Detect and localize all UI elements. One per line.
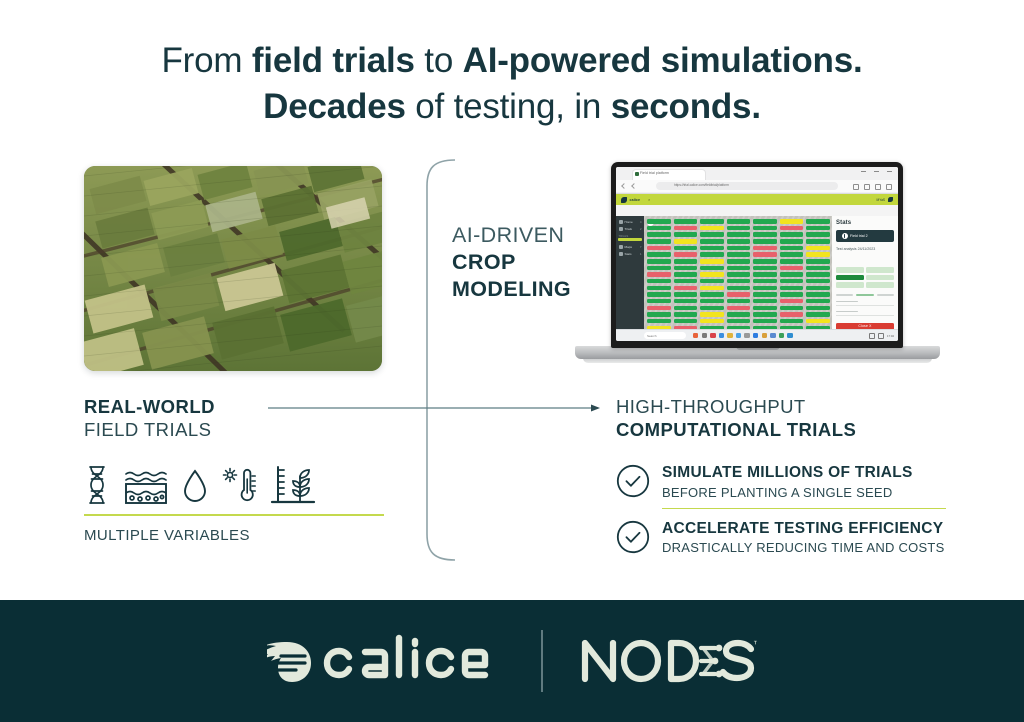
sidebar-label-0: Home (625, 220, 633, 224)
app-user-label: MYaS (877, 198, 885, 202)
plot-cell[interactable] (674, 279, 698, 284)
stats-panel-title: Stats (836, 220, 894, 226)
trials-icon (619, 227, 623, 231)
sidebar-item-trials[interactable]: Trials2 (616, 225, 644, 232)
plot-cell[interactable] (647, 239, 671, 244)
page-title: From field trials to AI-powered simulati… (0, 38, 1024, 129)
benefit-heading-1: SIMULATE MILLIONS OF TRIALS (662, 463, 913, 482)
plot-cell[interactable] (727, 286, 751, 291)
plot-cell[interactable] (700, 252, 724, 257)
sidebar-group-label: TRIALS (616, 234, 644, 238)
right-column: HIGH-THROUGHPUT COMPUTATIONAL TRIALS SIM… (616, 396, 946, 555)
plot-cell[interactable] (674, 246, 698, 251)
grid-columns (647, 219, 830, 330)
plot-cell[interactable] (780, 226, 804, 231)
headline-part-3: to (415, 41, 463, 80)
plot-cell[interactable] (647, 286, 671, 291)
plot-cell[interactable] (806, 232, 830, 237)
plot-cell[interactable] (647, 312, 671, 317)
right-divider-rule (662, 508, 946, 510)
field-underline (836, 315, 894, 316)
plot-cell[interactable] (647, 226, 671, 231)
plot-cell[interactable] (780, 246, 804, 251)
field-pin-icon (842, 233, 848, 239)
benefit-sub-2: DRASTICALLY REDUCING TIME AND COSTS (662, 540, 945, 555)
plot-cell[interactable] (727, 299, 751, 304)
soil-layers-icon (124, 469, 168, 505)
plot-cell[interactable] (806, 252, 830, 257)
plot-cell[interactable] (780, 239, 804, 244)
plot-cell[interactable] (727, 292, 751, 297)
app-header-right: MYaS (877, 197, 893, 202)
plot-cell[interactable] (647, 306, 671, 311)
bookmark-icon[interactable] (864, 184, 870, 190)
left-title-light: FIELD TRIALS (84, 419, 384, 442)
trademark-symbol: ™ (753, 639, 757, 649)
plot-cell[interactable] (753, 239, 777, 244)
plot-cell[interactable] (674, 219, 698, 224)
plot-cell[interactable] (674, 286, 698, 291)
plot-cell[interactable] (806, 226, 830, 231)
stats-card-label: Field trial 2 (850, 234, 868, 238)
plot-cell[interactable] (647, 299, 671, 304)
left-divider-rule (84, 514, 384, 516)
app-tab-close-icon[interactable]: × (648, 198, 650, 202)
stats-mini-legend (836, 294, 894, 296)
legend-bar-active (856, 294, 873, 296)
sidebar-active-indicator (618, 238, 642, 241)
plot-cell[interactable] (753, 259, 777, 264)
nodes-logo: ™ (579, 633, 757, 689)
left-caption: MULTIPLE VARIABLES (84, 527, 384, 544)
plot-cell[interactable] (780, 272, 804, 277)
taskbar-icon-6[interactable] (736, 333, 741, 338)
trial-plot-grid[interactable] (644, 216, 832, 330)
plot-cell[interactable] (674, 252, 698, 257)
plot-cell[interactable] (674, 239, 698, 244)
plot-cell[interactable] (753, 306, 777, 311)
grid-column-4 (753, 219, 777, 330)
plot-cell[interactable] (806, 239, 830, 244)
taskbar-icon-7[interactable] (744, 333, 749, 338)
browser-address-row: https://trial.calice.com/fieldtrial/plat… (616, 180, 898, 192)
calice-logo (267, 634, 505, 688)
plot-cell[interactable] (753, 272, 777, 277)
stats-chip[interactable] (836, 282, 864, 288)
taskbar-app-icons[interactable] (693, 333, 793, 338)
plot-cell[interactable] (647, 272, 671, 277)
laptop-lid: Field trial platform https://trial.calic… (611, 162, 903, 348)
plot-cell[interactable] (753, 226, 777, 231)
os-taskbar: Search (616, 329, 898, 341)
taskbar-icon-1[interactable] (693, 333, 698, 338)
maps-icon (619, 245, 623, 249)
home-icon (619, 220, 623, 224)
taskbar-tray[interactable]: 17:02 (869, 333, 894, 339)
grid-column-0 (647, 219, 671, 330)
plot-cell[interactable] (806, 299, 830, 304)
ruler-plant-icon (270, 465, 316, 505)
plot-cell[interactable] (780, 279, 804, 284)
plot-cell[interactable] (727, 266, 751, 271)
plot-cell[interactable] (727, 306, 751, 311)
app-sidebar: Home4 Trials2 TRIALS Maps7 Stats1 (616, 216, 644, 330)
plot-cell[interactable] (700, 246, 724, 251)
back-icon[interactable] (621, 183, 627, 189)
plot-cell[interactable] (674, 312, 698, 317)
plot-cell[interactable] (674, 299, 698, 304)
plot-cell[interactable] (700, 239, 724, 244)
profile-icon[interactable] (875, 184, 881, 190)
plot-cell[interactable] (806, 292, 830, 297)
plot-cell[interactable] (674, 232, 698, 237)
network-icon[interactable] (869, 333, 875, 339)
plot-cell[interactable] (727, 232, 751, 237)
plot-cell[interactable] (700, 306, 724, 311)
plot-cell[interactable] (647, 252, 671, 257)
plot-cell[interactable] (700, 266, 724, 271)
plot-cell[interactable] (674, 266, 698, 271)
field-label (836, 301, 858, 303)
taskbar-icon-3[interactable] (710, 333, 715, 338)
plot-cell[interactable] (780, 232, 804, 237)
plot-cell[interactable] (780, 266, 804, 271)
left-column: REAL-WORLD FIELD TRIALS (84, 396, 384, 544)
grid-column-3 (727, 219, 751, 330)
plot-cell[interactable] (780, 286, 804, 291)
sidebar-label-2: Maps (625, 245, 633, 249)
sidebar-item-maps[interactable]: Maps7 (616, 243, 644, 250)
thermometer-sun-icon (222, 467, 256, 505)
plot-cell[interactable] (780, 299, 804, 304)
window-controls[interactable] (861, 171, 892, 172)
plot-cell[interactable] (647, 319, 671, 324)
bracket-path (427, 160, 455, 560)
plot-cell[interactable] (806, 306, 830, 311)
plot-cell[interactable] (727, 259, 751, 264)
headline-part-4: AI-powered simulations. (463, 41, 863, 80)
field-trial-photo (84, 166, 382, 371)
browser-toolbar-icons[interactable] (853, 184, 892, 190)
headline-part-1: From (161, 41, 251, 80)
legend-bar (836, 294, 853, 296)
headline-part-2: field trials (252, 41, 415, 80)
plot-cell[interactable] (753, 232, 777, 237)
plot-cell[interactable] (647, 266, 671, 271)
plot-cell[interactable] (674, 319, 698, 324)
plot-cell[interactable] (753, 299, 777, 304)
calice-leaf-icon (267, 636, 321, 686)
plot-cell[interactable] (674, 292, 698, 297)
plot-cell[interactable] (806, 219, 830, 224)
plot-cell[interactable] (806, 246, 830, 251)
address-bar-url: https://trial.calice.com/fieldtrial/plat… (674, 183, 729, 187)
laptop-mockup: Field trial platform https://trial.calic… (575, 162, 940, 367)
taskbar-icon-8[interactable] (753, 333, 758, 338)
taskbar-icon-11[interactable] (779, 333, 784, 338)
maximize-icon[interactable] (874, 171, 879, 172)
minimize-icon[interactable] (861, 171, 866, 172)
sidebar-count-2: 7 (640, 245, 642, 249)
volume-icon[interactable] (878, 333, 884, 339)
headline-part-7: seconds. (611, 87, 761, 126)
left-column-title: REAL-WORLD FIELD TRIALS (84, 396, 384, 441)
plot-cell[interactable] (647, 246, 671, 251)
plot-cell[interactable] (700, 312, 724, 317)
stats-chip[interactable] (866, 275, 894, 281)
plot-cell[interactable] (753, 266, 777, 271)
plot-cell[interactable] (647, 259, 671, 264)
plot-cell[interactable] (674, 226, 698, 231)
plot-cell[interactable] (700, 279, 724, 284)
right-title-bold: COMPUTATIONAL TRIALS (616, 419, 946, 442)
plot-cell[interactable] (780, 252, 804, 257)
grid-column-6 (806, 219, 830, 330)
app-logo-icon (621, 197, 627, 203)
plot-cell[interactable] (806, 266, 830, 271)
plot-cell[interactable] (700, 292, 724, 297)
plot-cell[interactable] (780, 306, 804, 311)
plot-cell[interactable] (727, 252, 751, 257)
plot-cell[interactable] (780, 219, 804, 224)
browser-tab-row: Field trial platform (616, 167, 898, 180)
logo-divider (541, 630, 542, 692)
sidebar-item-stats[interactable]: Stats1 (616, 250, 644, 257)
plot-cell[interactable] (806, 272, 830, 277)
taskbar-search-input[interactable]: Search (644, 332, 686, 339)
dna-helix-icon (84, 465, 110, 505)
sidebar-item-home[interactable]: Home4 (616, 218, 644, 225)
plot-cell[interactable] (647, 219, 671, 224)
plot-cell[interactable] (700, 299, 724, 304)
browser-nav-buttons[interactable] (622, 184, 636, 188)
stats-selected-card[interactable]: Field trial 2 (836, 230, 894, 242)
taskbar-icon-4[interactable] (719, 333, 724, 338)
plot-cell[interactable] (700, 259, 724, 264)
sidebar-label-3: Stats (625, 252, 632, 256)
close-icon[interactable] (887, 171, 892, 172)
stats-icon (619, 252, 623, 256)
taskbar-icon-2[interactable] (702, 333, 707, 338)
headline-part-5: Decades (263, 87, 406, 126)
plot-cell[interactable] (727, 312, 751, 317)
plot-cell[interactable] (806, 319, 830, 324)
plot-cell[interactable] (647, 279, 671, 284)
sidebar-count-0: 4 (640, 220, 642, 224)
stats-chip[interactable] (866, 282, 894, 288)
app-avatar-icon[interactable] (888, 197, 893, 202)
taskbar-clock: 17:02 (887, 334, 894, 338)
extensions-icon[interactable] (853, 184, 859, 190)
plot-cell[interactable] (753, 219, 777, 224)
benefit-item-1: SIMULATE MILLIONS OF TRIALS BEFORE PLANT… (616, 463, 946, 499)
nodes-wordmark: ™ (579, 633, 757, 689)
sidebar-count-1: 2 (640, 227, 642, 231)
plot-cell[interactable] (753, 246, 777, 251)
plot-cell[interactable] (700, 319, 724, 324)
left-title-bold: REAL-WORLD (84, 396, 384, 419)
sidebar-label-1: Trials (625, 227, 632, 231)
benefit-heading-2: ACCELERATE TESTING EFFICIENCY (662, 519, 945, 538)
plot-cell[interactable] (806, 259, 830, 264)
plot-cell[interactable] (727, 279, 751, 284)
browser-chrome: Field trial platform https://trial.calic… (616, 167, 898, 194)
plot-cell[interactable] (727, 226, 751, 231)
stats-chip-selected[interactable] (836, 275, 864, 281)
app-body: Home4 Trials2 TRIALS Maps7 Stats1 Stats (616, 216, 898, 330)
plot-cell[interactable] (753, 312, 777, 317)
plot-cell[interactable] (674, 306, 698, 311)
stats-chip-group[interactable] (836, 267, 894, 288)
plot-cell[interactable] (700, 226, 724, 231)
favicon-icon (635, 172, 639, 176)
plot-cell[interactable] (753, 279, 777, 284)
grid-column-2 (700, 219, 724, 330)
plot-cell[interactable] (753, 319, 777, 324)
plot-cell[interactable] (780, 319, 804, 324)
plot-cell[interactable] (700, 232, 724, 237)
plot-cell[interactable] (700, 219, 724, 224)
forward-icon[interactable] (631, 183, 637, 189)
aerial-field-plots-illustration (84, 166, 382, 371)
taskbar-icon-10[interactable] (770, 333, 775, 338)
plot-cell[interactable] (780, 312, 804, 317)
browser-tab-title: Field trial platform (640, 171, 669, 175)
stats-date-label: Test analysis 24/11/2023 (836, 247, 894, 251)
app-brand-label: calice (630, 198, 641, 202)
flow-arrow-head (591, 405, 600, 412)
stats-panel: Stats Field trial 2 Test analysis 24/11/… (832, 216, 898, 330)
plot-cell[interactable] (806, 286, 830, 291)
plot-cell[interactable] (806, 279, 830, 284)
plot-cell[interactable] (727, 219, 751, 224)
field-underline (836, 305, 894, 306)
field-label (836, 311, 858, 313)
laptop-screen: Field trial platform https://trial.calic… (616, 167, 898, 341)
plot-cell[interactable] (647, 292, 671, 297)
plot-cell[interactable] (753, 292, 777, 297)
variable-icons (84, 463, 384, 505)
grid-column-1 (674, 219, 698, 330)
stats-form-field[interactable] (836, 301, 894, 306)
stats-chip[interactable] (866, 267, 894, 273)
benefit-sub-1: BEFORE PLANTING A SINGLE SEED (662, 485, 913, 500)
check-circle-icon (616, 464, 650, 498)
headline-part-6: of testing, in (406, 87, 611, 126)
plot-cell[interactable] (727, 239, 751, 244)
benefit-item-2: ACCELERATE TESTING EFFICIENCY DRASTICALL… (616, 519, 946, 555)
stats-form-field[interactable] (836, 311, 894, 316)
legend-bar (877, 294, 894, 296)
plot-cell[interactable] (647, 232, 671, 237)
plot-cell[interactable] (753, 286, 777, 291)
calice-wordmark (321, 634, 505, 688)
plot-cell[interactable] (753, 252, 777, 257)
plot-cell[interactable] (727, 272, 751, 277)
plot-cell[interactable] (700, 286, 724, 291)
benefit-text-2: ACCELERATE TESTING EFFICIENCY DRASTICALL… (662, 519, 945, 555)
benefit-text-1: SIMULATE MILLIONS OF TRIALS BEFORE PLANT… (662, 463, 913, 499)
plot-cell[interactable] (780, 259, 804, 264)
check-circle-icon (616, 520, 650, 554)
plot-cell[interactable] (674, 259, 698, 264)
plot-cell[interactable] (674, 272, 698, 277)
menu-icon[interactable] (886, 184, 892, 190)
app-header: calice × MYaS (616, 194, 898, 205)
right-column-title: HIGH-THROUGHPUT COMPUTATIONAL TRIALS (616, 396, 946, 441)
plot-cell[interactable] (780, 292, 804, 297)
plot-cell[interactable] (727, 246, 751, 251)
poster-canvas: From field trials to AI-powered simulati… (0, 0, 1024, 722)
taskbar-icon-9[interactable] (762, 333, 767, 338)
right-title-light: HIGH-THROUGHPUT (616, 396, 946, 419)
taskbar-icon-5[interactable] (727, 333, 732, 338)
water-drop-icon (182, 469, 208, 505)
plot-cell[interactable] (806, 312, 830, 317)
taskbar-icon-12[interactable] (787, 333, 792, 338)
stats-chip[interactable] (836, 267, 864, 273)
sidebar-count-3: 1 (640, 252, 642, 256)
plot-cell[interactable] (727, 319, 751, 324)
footer-bar: ™ (0, 600, 1024, 722)
plot-cell[interactable] (700, 272, 724, 277)
grid-column-5 (780, 219, 804, 330)
